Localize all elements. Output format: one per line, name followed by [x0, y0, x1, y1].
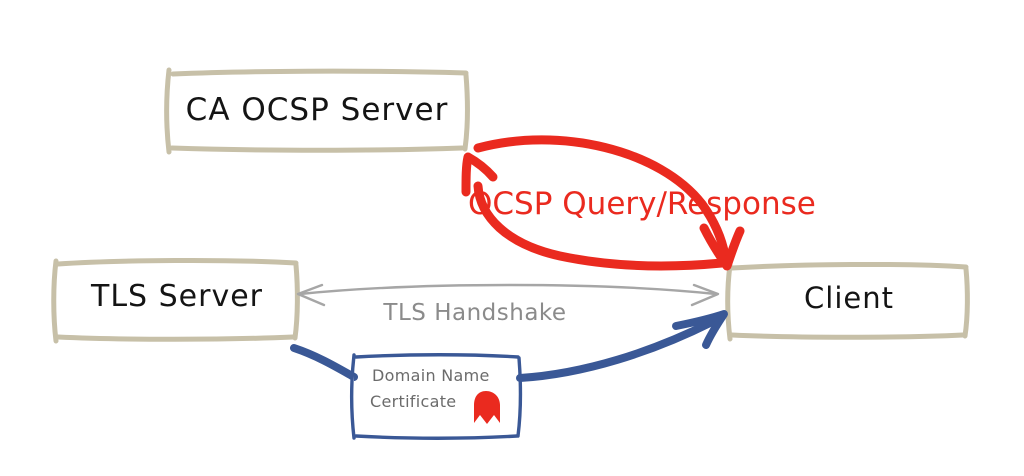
client-box-left-edge: [728, 265, 730, 339]
client-box-right-edge: [965, 269, 967, 336]
certificate-certificate-text: Certificate: [370, 392, 456, 411]
handshake-arrow-shaft: [300, 285, 716, 294]
handshake-arrowhead-right: [692, 285, 718, 305]
ocsp-query-response-label: OCSP Query/Response: [468, 186, 844, 222]
cert-arrow-right-segment: [520, 322, 712, 378]
certificate-domain-name-text: Domain Name: [372, 366, 490, 385]
cert-box-left-edge: [352, 355, 354, 438]
handshake-arrowhead-left: [298, 285, 324, 305]
client-label: Client: [740, 281, 958, 315]
ca-ocsp-server-label: CA OCSP Server: [178, 92, 456, 128]
client-box-top-edge: [732, 264, 966, 268]
ca-box-left-edge: [167, 70, 169, 152]
tls-server-label: TLS Server: [66, 279, 288, 314]
ca-box-top-edge: [173, 71, 466, 74]
red-ribbon-seal-icon: [474, 391, 500, 424]
client-box-bottom-edge: [732, 335, 963, 337]
tls-box-left-edge: [54, 261, 56, 341]
tls-box-right-edge: [295, 265, 297, 338]
tls-handshake-label: TLS Handshake: [340, 300, 610, 326]
cert-box-bottom-edge: [356, 436, 517, 438]
diagram-sketch-layer: [0, 0, 1024, 476]
ca-box-right-edge: [465, 75, 467, 149]
cert-arrow-left-segment: [294, 348, 354, 377]
ca-box-bottom-edge: [172, 148, 462, 150]
tls-box-bottom-edge: [58, 337, 293, 339]
tls-box-top-edge: [58, 260, 296, 264]
cert-box-right-edge: [518, 358, 520, 436]
diagram-canvas: CA OCSP Server TLS Server Client TLS Han…: [0, 0, 1024, 476]
cert-box-top-edge: [356, 355, 518, 357]
